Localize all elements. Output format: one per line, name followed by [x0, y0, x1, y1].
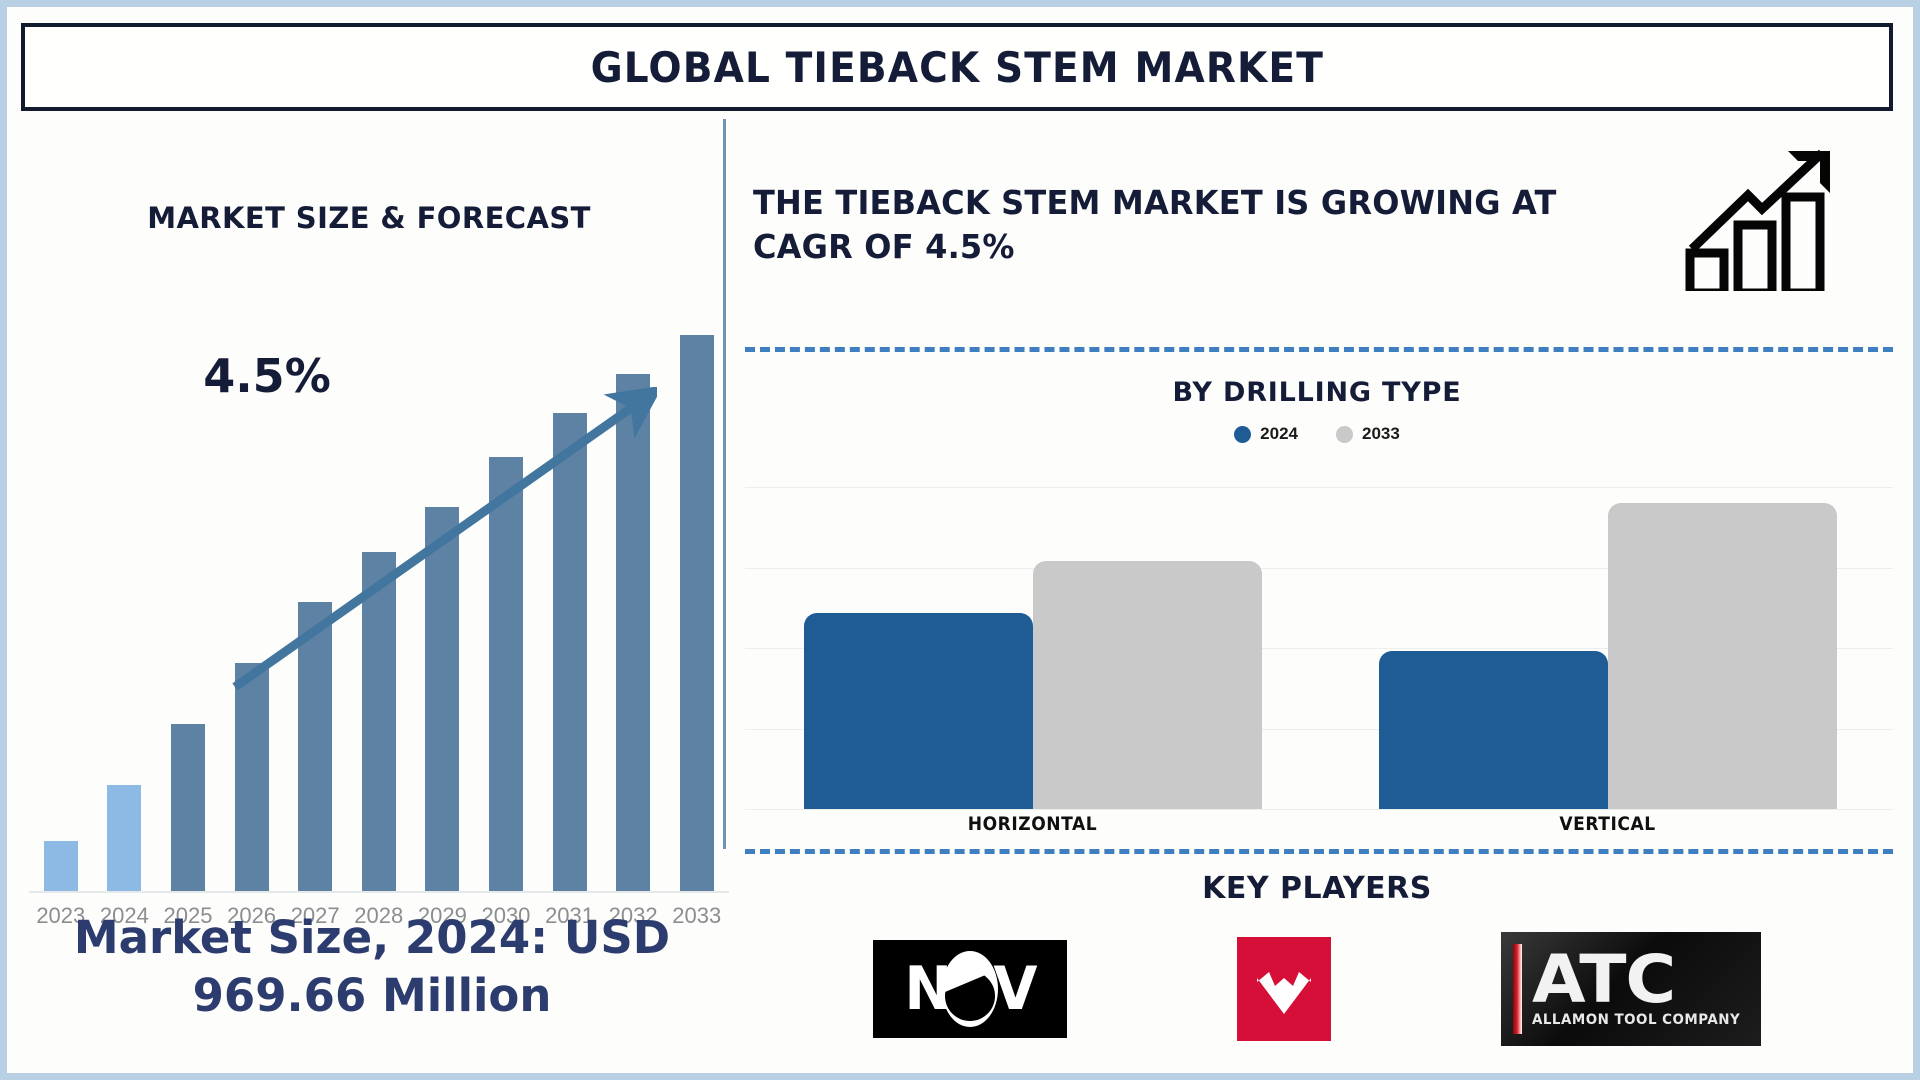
growth-statement: THE TIEBACK STEM MARKET IS GROWING AT CA…: [753, 181, 1636, 269]
infographic-root: GLOBAL TIEBACK STEM MARKET MARKET SIZE &…: [0, 0, 1920, 1080]
nov-logo: NOV: [873, 940, 1067, 1038]
forecast-bar-column: [347, 335, 411, 891]
forecast-bar: [362, 552, 396, 891]
forecast-bar-column: [220, 335, 284, 891]
nov-logo-ellipse: [942, 951, 998, 1027]
crimson-heart-logo: [1237, 937, 1331, 1041]
forecast-bar: [489, 457, 523, 891]
atc-logo: ATC ALLAMON TOOL COMPANY: [1501, 932, 1761, 1046]
right-panel: THE TIEBACK STEM MARKET IS GROWING AT CA…: [737, 119, 1907, 1069]
forecast-bar: [171, 724, 205, 891]
forecast-bar-column: [601, 335, 665, 891]
forecast-bar: [616, 374, 650, 891]
key-players-heading: KEY PLAYERS: [737, 871, 1897, 906]
heart-chevron-icon: [1255, 962, 1313, 1016]
forecast-bar: [235, 663, 269, 891]
divider-bottom: [745, 849, 1893, 854]
legend-dot-icon: [1336, 426, 1353, 443]
forecast-bar: [553, 413, 587, 891]
forecast-bar: [680, 335, 714, 891]
title-box: GLOBAL TIEBACK STEM MARKET: [21, 23, 1893, 111]
drilling-type-bar-2033: [1033, 561, 1262, 809]
drilling-type-bars: [745, 487, 1895, 809]
atc-logo-accent-bar: [1513, 944, 1522, 1034]
forecast-bar-column: [411, 335, 475, 891]
left-panel: MARKET SIZE & FORECAST 4.5% 202320242025…: [17, 119, 721, 1069]
atc-logo-subtext: ALLAMON TOOL COMPANY: [1532, 1012, 1752, 1028]
market-size-value: Market Size, 2024: USD 969.66 Million: [27, 909, 717, 1024]
by-drilling-type-heading: BY DRILLING TYPE: [737, 377, 1897, 408]
legend-dot-icon: [1234, 426, 1251, 443]
forecast-bar-column: [93, 335, 157, 891]
drilling-type-bar-2033: [1608, 503, 1837, 809]
divider-top: [745, 347, 1893, 352]
legend-item-2024[interactable]: 2024: [1234, 424, 1298, 444]
forecast-axis-line: [29, 891, 729, 893]
forecast-bar: [298, 602, 332, 891]
market-size-forecast-chart: 2023202420252026202720282029203020312032…: [19, 319, 729, 949]
legend-label: 2033: [1362, 424, 1400, 444]
drilling-type-group: [1320, 487, 1895, 809]
drilling-type-bar-2024: [1379, 651, 1608, 809]
key-players-logos: NOV ATC ALLAMON TOOL COMPANY: [737, 929, 1897, 1049]
forecast-bar-column: [538, 335, 602, 891]
forecast-bars: [29, 335, 729, 891]
forecast-bar-column: [665, 335, 729, 891]
forecast-bar-column: [29, 335, 93, 891]
atc-logo-text: ATC: [1532, 950, 1761, 1011]
page-title: GLOBAL TIEBACK STEM MARKET: [590, 43, 1323, 92]
forecast-bar: [425, 507, 459, 891]
drilling-type-label: VERTICAL: [1349, 813, 1867, 835]
legend-label: 2024: [1260, 424, 1298, 444]
forecast-bar: [107, 785, 141, 891]
chart-legend: 20242033: [737, 424, 1897, 444]
by-drilling-type-chart: [745, 459, 1895, 809]
drilling-type-category-labels: HORIZONTALVERTICAL: [745, 813, 1895, 835]
forecast-bar-column: [474, 335, 538, 891]
forecast-bar-column: [156, 335, 220, 891]
forecast-bar-column: [283, 335, 347, 891]
drilling-type-label: HORIZONTAL: [774, 813, 1292, 835]
bar-chart-growth-icon: [1682, 141, 1842, 291]
legend-item-2033[interactable]: 2033: [1336, 424, 1400, 444]
gridline: [745, 809, 1893, 810]
market-size-forecast-heading: MARKET SIZE & FORECAST: [17, 201, 721, 235]
drilling-type-group: [745, 487, 1320, 809]
forecast-bar: [44, 841, 78, 891]
drilling-type-bar-2024: [804, 613, 1033, 809]
